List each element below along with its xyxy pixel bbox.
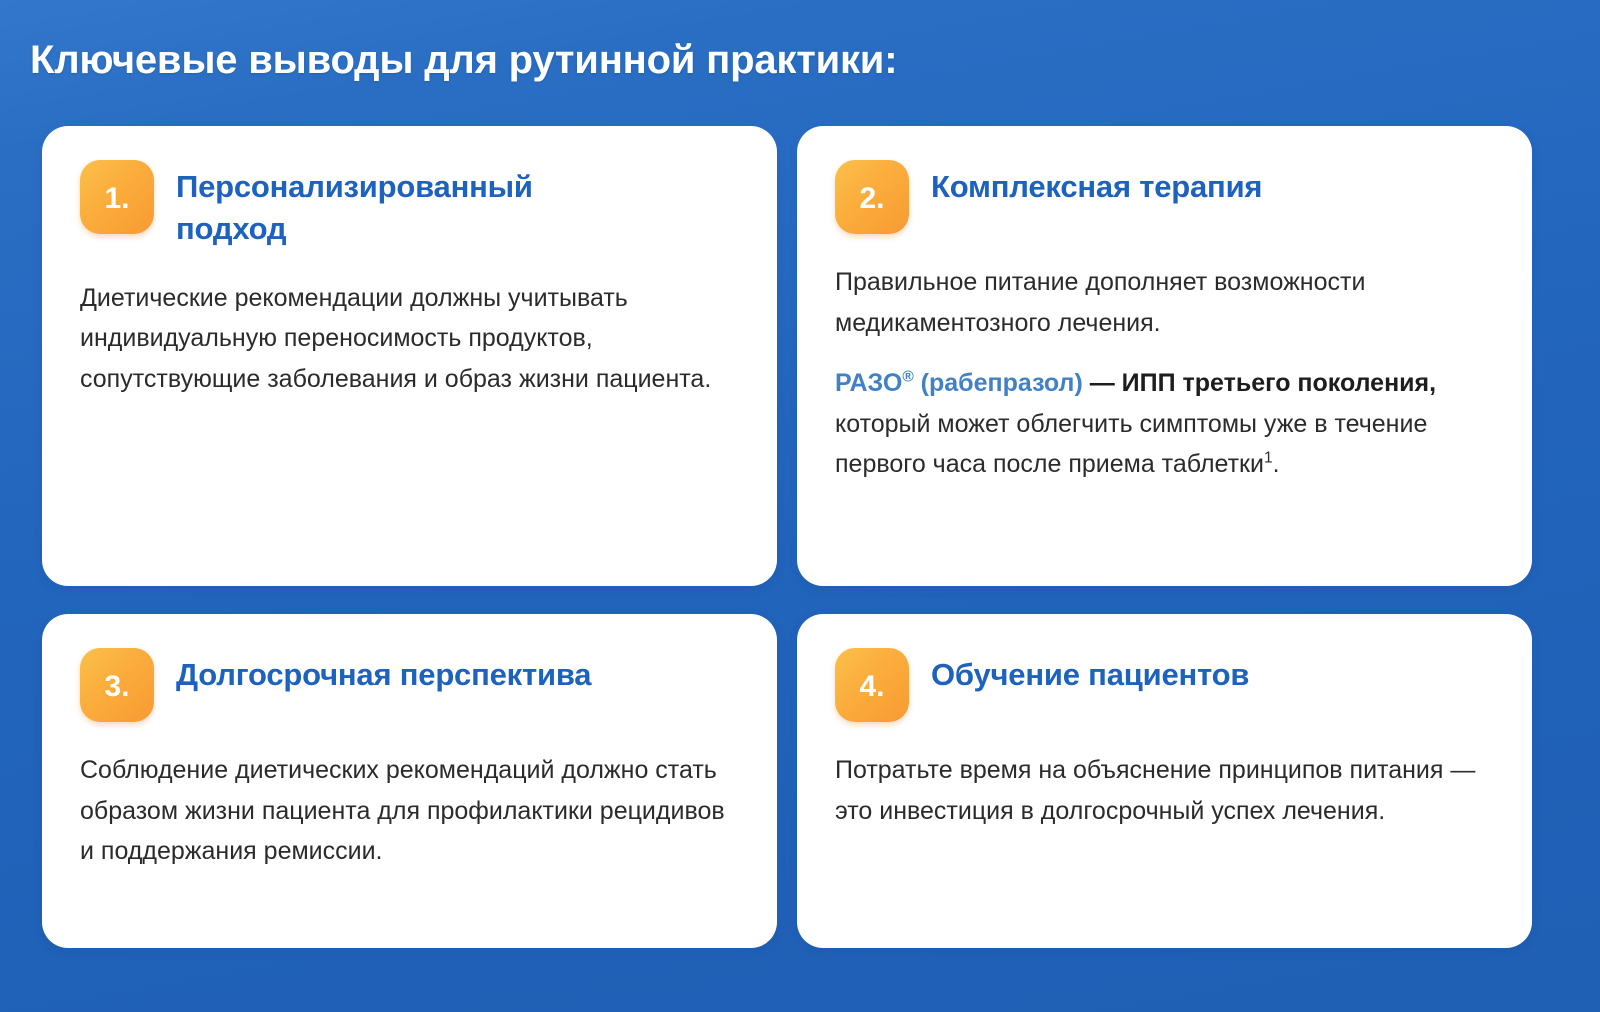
card-1-number-badge: 1. [80,160,154,234]
takeaway-card-4: 4. Обучение пациентов Потратьте время на… [797,614,1532,948]
drug-generic-label: (рабепразол) [914,369,1083,397]
card-2-body: Правильное питание дополняет возможности… [835,262,1494,485]
card-3-number-badge: 3. [80,648,154,722]
takeaway-card-2: 2. Комплексная терапия Правильное питани… [797,126,1532,586]
card-4-paragraph: Потратьте время на объяснение принципов … [835,750,1494,831]
card-3-header: 3. Долгосрочная перспектива [80,648,739,722]
drug-class-label: — ИПП третьего поколения, [1083,369,1436,397]
card-2-title: Комплексная терапия [931,160,1262,208]
drug-description-text: который может облегчить симптомы уже в т… [835,410,1427,479]
drug-brand-name: РАЗО® (рабепразол) [835,369,1083,397]
card-1-title: Персонализированный подход [176,160,646,250]
page-title: Ключевые выводы для рутинной практики: [30,38,897,83]
takeaway-card-3: 3. Долгосрочная перспектива Соблюдение д… [42,614,777,948]
card-3-paragraph: Соблюдение диетических рекомендаций долж… [80,750,739,872]
takeaway-card-1: 1. Персонализированный подход Диетически… [42,126,777,586]
key-takeaways-grid: 1. Персонализированный подход Диетически… [42,126,1532,948]
card-3-title: Долгосрочная перспектива [176,648,591,696]
card-1-paragraph: Диетические рекомендации должны учитыват… [80,278,739,400]
card-4-header: 4. Обучение пациентов [835,648,1494,722]
card-1-body: Диетические рекомендации должны учитыват… [80,278,739,400]
drug-brand-label: РАЗО [835,369,902,397]
card-2-header: 2. Комплексная терапия [835,160,1494,234]
card-2-drug-paragraph: РАЗО® (рабепразол) — ИПП третьего поколе… [835,363,1494,485]
card-2-paragraph: Правильное питание дополняет возможности… [835,262,1494,343]
drug-sentence-end: . [1273,450,1280,478]
card-2-number-badge: 2. [835,160,909,234]
card-4-number-badge: 4. [835,648,909,722]
card-3-body: Соблюдение диетических рекомендаций долж… [80,750,739,872]
card-4-body: Потратьте время на объяснение принципов … [835,750,1494,831]
card-4-title: Обучение пациентов [931,648,1249,696]
card-1-header: 1. Персонализированный подход [80,160,739,250]
trademark-symbol: ® [902,369,913,386]
footnote-reference: 1 [1264,450,1273,467]
